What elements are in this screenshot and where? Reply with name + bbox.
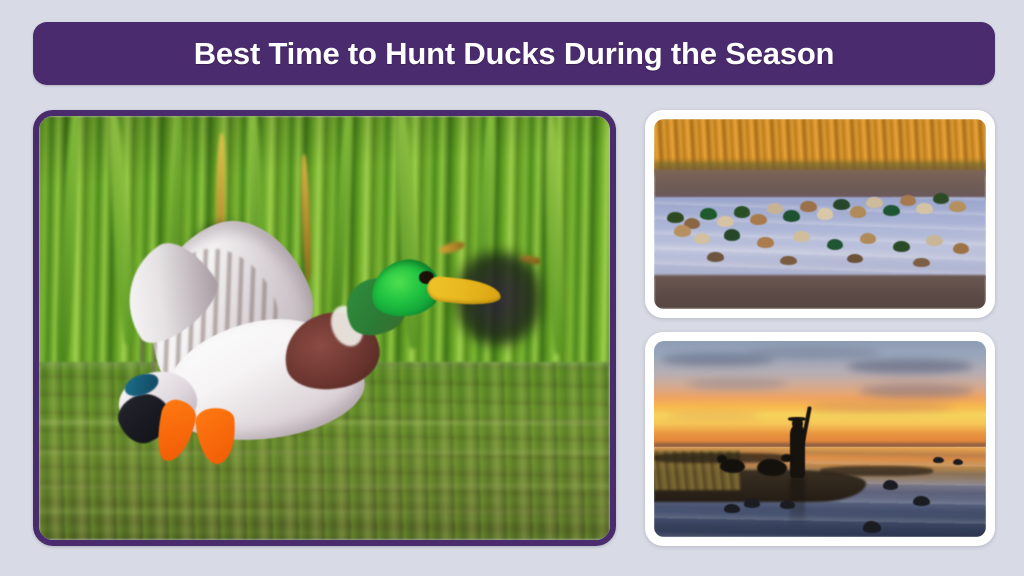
duck-in-flock xyxy=(916,203,933,214)
duck-decoy xyxy=(913,496,930,506)
duck-flock-on-marsh-photo xyxy=(654,119,986,309)
duck-in-flock xyxy=(847,254,864,264)
duck-in-flock xyxy=(734,206,751,217)
page-title: Best Time to Hunt Ducks During the Seaso… xyxy=(194,36,835,72)
duck-in-flock xyxy=(800,201,817,212)
cloud xyxy=(847,359,973,375)
duck-in-flock xyxy=(793,231,810,242)
duck-decoy xyxy=(780,500,795,509)
cloud xyxy=(687,378,787,390)
duck-decoy xyxy=(953,459,964,465)
duck-in-flock xyxy=(767,203,784,214)
duck-in-flock xyxy=(883,205,900,216)
marsh-vegetation xyxy=(820,466,933,476)
retriever-dog-head xyxy=(717,455,727,463)
duck-bill xyxy=(426,276,502,309)
duck-in-flock xyxy=(707,252,724,262)
duck-in-flock xyxy=(757,237,774,248)
cloud xyxy=(747,347,880,359)
duck-in-flock xyxy=(827,239,844,250)
hero-image-card xyxy=(33,110,616,546)
cloud xyxy=(807,402,953,412)
duck-decoy xyxy=(744,498,761,508)
side-image-card-hunter xyxy=(645,332,995,546)
duck-foot xyxy=(195,406,240,466)
side-image-card-flock xyxy=(645,110,995,318)
mudflat-lower xyxy=(654,275,986,309)
duck-in-flock xyxy=(893,241,910,252)
duck-decoy xyxy=(883,480,898,490)
header-banner: Best Time to Hunt Ducks During the Seaso… xyxy=(33,22,995,85)
duck-in-flock xyxy=(780,256,797,266)
duck-in-flock xyxy=(833,199,850,210)
duck-in-flock xyxy=(817,208,834,219)
duck-hunter-at-sunset-photo xyxy=(654,341,986,537)
duck-in-flock xyxy=(674,225,691,236)
duck-in-flock xyxy=(717,216,734,227)
water-ripple xyxy=(39,510,610,513)
duck-in-flock xyxy=(913,258,930,268)
slide-canvas: Best Time to Hunt Ducks During the Seaso… xyxy=(0,0,1024,576)
duck-in-flock xyxy=(866,197,883,208)
duck-decoy xyxy=(863,521,881,533)
duck-in-flock xyxy=(750,214,767,225)
duck-in-flock xyxy=(949,201,966,212)
duck-in-flock xyxy=(667,212,684,223)
duck-in-flock xyxy=(700,208,717,219)
mallard-drake-in-flight-photo xyxy=(39,116,610,540)
cloud xyxy=(860,384,973,398)
hunter-silhouette-hat xyxy=(788,417,806,421)
duck-in-flock xyxy=(850,206,867,217)
duck-decoy xyxy=(724,504,741,514)
duck-in-flock xyxy=(724,229,741,240)
duck-in-flock xyxy=(926,235,943,246)
duck-in-flock xyxy=(783,210,800,221)
retriever-dog-head xyxy=(781,454,792,463)
mallard-drake xyxy=(85,226,519,506)
